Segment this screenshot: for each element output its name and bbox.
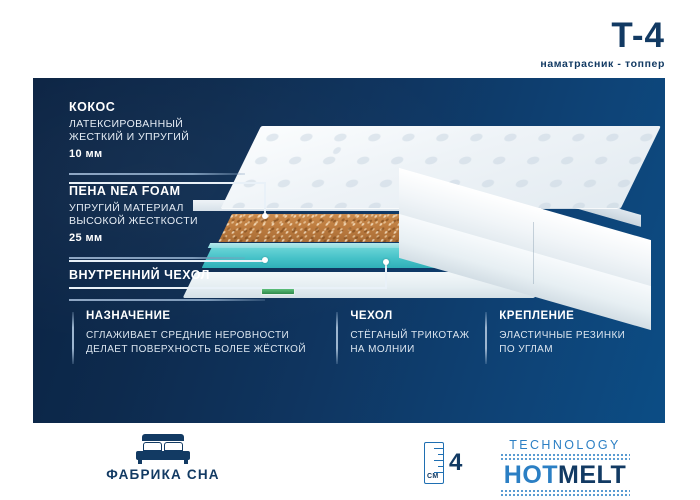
feature-desc-purpose-1: СГЛАЖИВАЕТ СРЕДНИЕ НЕРОВНОСТИ <box>86 329 336 343</box>
spec-title-coconut: КОКОС <box>69 100 284 114</box>
leader-line-coconut <box>69 182 265 184</box>
footer: ФАБРИКА СНА CM 4 TECHNOLOGY HOTMELT <box>0 428 700 500</box>
bed-icon <box>126 434 200 464</box>
spec-item-coconut: КОКОС ЛАТЕКСИРОВАННЫЙ ЖЕСТКИЙ И УПРУГИЙ … <box>69 100 284 166</box>
technology-label: TECHNOLOGY <box>500 438 630 452</box>
leader-dot-inner-cover <box>383 259 389 265</box>
spec-divider-2 <box>69 257 245 259</box>
feature-title-fastening: КРЕПЛЕНИЕ <box>499 310 642 322</box>
bed-pillow-left-shape <box>143 442 162 451</box>
feature-cover: ЧЕХОЛ СТЁГАНЫЙ ТРИКОТАЖ НА МОЛНИИ <box>336 310 485 356</box>
hotmelt-wordmark: HOTMELT <box>500 462 630 488</box>
feature-desc-fastening-1: ЭЛАСТИЧНЫЕ РЕЗИНКИ <box>499 329 642 343</box>
brand-name: ФАБРИКА СНА <box>78 467 248 482</box>
spec-title-foam: ПЕНА NEA FOAM <box>69 184 284 198</box>
layer-spec-list: КОКОС ЛАТЕКСИРОВАННЫЙ ЖЕСТКИЙ И УПРУГИЙ … <box>69 100 284 310</box>
hotmelt-melt-text: MELT <box>558 461 626 489</box>
spec-divider-1 <box>69 173 245 175</box>
page-title: T-4 <box>540 18 665 53</box>
spec-title-inner-cover: ВНУТРЕННИЙ ЧЕХОЛ <box>69 268 284 282</box>
hotmelt-technology-logo: TECHNOLOGY HOTMELT <box>500 438 630 498</box>
feature-desc-cover-2: НА МОЛНИИ <box>350 343 485 357</box>
leader-line-foam <box>69 260 265 262</box>
feature-desc-purpose-2: ДЕЛАЕТ ПОВЕРХНОСТЬ БОЛЕЕ ЖЁСТКОЙ <box>86 343 336 357</box>
spec-thickness-coconut: 10 мм <box>69 148 284 160</box>
spec-desc-coconut-2: ЖЕСТКИЙ И УПРУГИЙ <box>69 131 284 144</box>
leader-dot-coconut <box>262 213 268 219</box>
page-subtitle: наматрасник - топпер <box>540 58 665 70</box>
height-badge: CM 4 <box>424 442 462 484</box>
feature-title-purpose: НАЗНАЧЕНИЕ <box>86 310 336 322</box>
leader-line-inner-cover-vertical <box>385 262 387 288</box>
spec-divider-3 <box>69 299 265 301</box>
leader-dot-foam <box>262 257 268 263</box>
feature-title-cover: ЧЕХОЛ <box>350 310 485 322</box>
spec-thickness-foam: 25 мм <box>69 232 284 244</box>
hotmelt-dots-top <box>500 453 630 461</box>
ruler-icon: CM <box>424 442 444 484</box>
bed-base-shape <box>136 451 190 460</box>
main-panel: КОКОС ЛАТЕКСИРОВАННЫЙ ЖЕСТКИЙ И УПРУГИЙ … <box>33 78 665 423</box>
mattress-seam <box>533 222 534 284</box>
height-unit-label: CM <box>427 473 439 480</box>
poster-canvas: T-4 наматрасник - топпер <box>0 0 700 500</box>
feature-desc-cover-1: СТЁГАНЫЙ ТРИКОТАЖ <box>350 329 485 343</box>
feature-row: НАЗНАЧЕНИЕ СГЛАЖИВАЕТ СРЕДНИЕ НЕРОВНОСТИ… <box>72 310 642 356</box>
spec-desc-foam-2: ВЫСОКОЙ ЖЕСТКОСТИ <box>69 215 284 228</box>
leader-line-coconut-vertical <box>264 182 266 216</box>
bed-headboard-shape <box>142 434 184 441</box>
spec-desc-foam-1: УПРУГИЙ МАТЕРИАЛ <box>69 202 284 215</box>
bed-leg-right-shape <box>184 460 188 464</box>
feature-purpose: НАЗНАЧЕНИЕ СГЛАЖИВАЕТ СРЕДНИЕ НЕРОВНОСТИ… <box>72 310 336 356</box>
page-header: T-4 наматрасник - топпер <box>540 18 665 70</box>
bed-leg-left-shape <box>138 460 142 464</box>
brand-logo: ФАБРИКА СНА <box>78 434 248 482</box>
leader-line-inner-cover <box>69 287 387 289</box>
spec-item-foam: ПЕНА NEA FOAM УПРУГИЙ МАТЕРИАЛ ВЫСОКОЙ Ж… <box>69 184 284 250</box>
hotmelt-hot-text: HOT <box>504 461 558 489</box>
spec-desc-coconut-1: ЛАТЕКСИРОВАННЫЙ <box>69 118 284 131</box>
hotmelt-dots-bottom <box>500 489 630 497</box>
feature-desc-fastening-2: ПО УГЛАМ <box>499 343 642 357</box>
feature-fastening: КРЕПЛЕНИЕ ЭЛАСТИЧНЫЕ РЕЗИНКИ ПО УГЛАМ <box>485 310 642 356</box>
bed-pillow-right-shape <box>164 442 183 451</box>
height-value: 4 <box>449 451 462 475</box>
